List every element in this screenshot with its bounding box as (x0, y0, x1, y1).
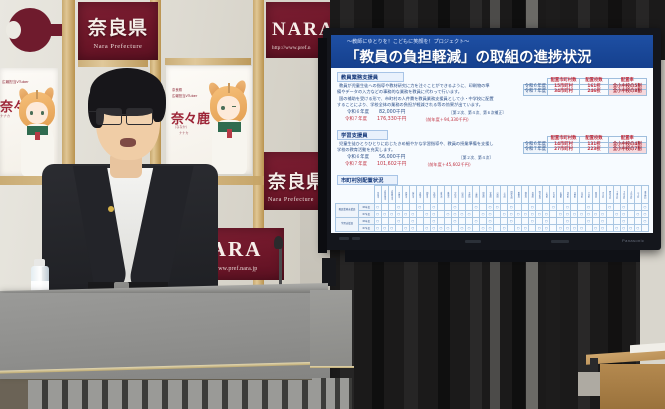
press-conference-photo: 奈良県 Nara Prefecture NARA http://www.pref… (0, 0, 665, 409)
grid-col-header: 十津川村 (613, 186, 620, 204)
lectern-grille (28, 380, 328, 409)
grid-cell (473, 225, 480, 232)
grid-cell: ○ (395, 218, 402, 225)
grid-row-group-label: 学習支援員 (336, 218, 359, 232)
section-2-line-1: 児童生徒ひとりひとりに応じたきめ細やかな学習指導や、教員の授業準備を支援し (339, 141, 494, 147)
grid-row-label: R6年度 (359, 204, 375, 211)
grid-cell (641, 225, 648, 232)
grid-col-header: 御所市 (423, 186, 430, 204)
grid-cell: ○ (388, 211, 395, 218)
grid-cell (494, 211, 501, 218)
grid-cell: ○ (381, 225, 388, 232)
grid-cell: ○ (599, 225, 606, 232)
grid-cell: ○ (388, 225, 395, 232)
section-tag-1: 教員業務支援員 (337, 72, 404, 82)
grid-cell: ○ (620, 225, 627, 232)
grid-cell: ○ (599, 218, 606, 225)
section-2-budget-value-1: 56,000千円 (379, 155, 405, 161)
grid-cell (465, 218, 472, 225)
grid-cell: ○ (451, 204, 458, 211)
grid-cell (627, 204, 634, 211)
grid-cell (578, 204, 585, 211)
grid-col-header: 平群町 (465, 186, 472, 204)
table-row: R7年度○○○○○○○○○○○○○○○○○○○○○○○○○○○○○○○○ (336, 211, 649, 218)
grid-cell: ○ (571, 225, 578, 232)
grid-cell: ○ (592, 211, 599, 218)
grid-col-header: 田原本町 (508, 186, 515, 204)
grid-cell: ○ (465, 225, 472, 232)
lectern-side-block (310, 290, 352, 368)
grid-cell (571, 218, 578, 225)
grid-cell: ○ (458, 225, 465, 232)
grid-cell: ○ (606, 204, 613, 211)
grid-cell (529, 225, 536, 232)
grid-cell: ○ (409, 225, 416, 232)
grid-col-header: 河合町 (564, 186, 571, 204)
grid-cell (613, 204, 620, 211)
grid-cell: ○ (571, 211, 578, 218)
grid-cell: ○ (480, 225, 487, 232)
grid-cell: ○ (501, 225, 508, 232)
cell-value: 27市町村 (547, 148, 580, 154)
section-1-budget-value-2: 176,330千円 (377, 117, 406, 123)
grid-cell (388, 218, 395, 225)
panel-en-label: Nara Prefecture (268, 197, 314, 203)
lectern-side-trim (310, 366, 354, 368)
grid-cell: ○ (634, 225, 641, 232)
grid-cell: ○ (557, 225, 564, 232)
grid-cell: ○ (395, 204, 402, 211)
presentation-display: ～教師にゆとりを！こどもに笑顔を！プロジェクト～ 「教員の負担軽減」の取組の進捗… (323, 28, 661, 250)
grid-cell (592, 204, 599, 211)
grid-cell: ○ (620, 218, 627, 225)
grid-cell: ○ (543, 218, 550, 225)
section-1-line-1: 教員が児童生徒への指導や教材研究に力を注ぐことができるように、印刷物の準 (339, 83, 490, 89)
grid-cell (437, 204, 444, 211)
grid-col-header: 上北山村 (627, 186, 634, 204)
grid-cell: ○ (487, 218, 494, 225)
grid-col-header: 橿原市 (402, 186, 409, 204)
grid-cell: ○ (473, 204, 480, 211)
grid-cell: ○ (529, 204, 536, 211)
grid-cell (606, 218, 613, 225)
hair-side (152, 86, 166, 122)
grid-cell (501, 218, 508, 225)
grid-cell: ○ (585, 218, 592, 225)
grid-cell: ○ (557, 211, 564, 218)
grid-cell: ○ (529, 218, 536, 225)
grid-cell: ○ (529, 211, 536, 218)
grid-cell: ○ (592, 225, 599, 232)
grid-col-header: 大和郡山市 (388, 186, 395, 204)
grid-cell (557, 204, 564, 211)
grid-col-header: 川上村 (634, 186, 641, 204)
grid-cell (522, 218, 529, 225)
secondary-microphone-capsule (274, 236, 283, 249)
grid-cell (437, 218, 444, 225)
grid-cell (515, 218, 522, 225)
grid-cell: ○ (402, 211, 409, 218)
grid-cell: ○ (599, 211, 606, 218)
display-screen: ～教師にゆとりを！こどもに笑顔を！プロジェクト～ 「教員の負担軽減」の取組の進捗… (331, 35, 653, 233)
slide-content: ～教師にゆとりを！こどもに笑顔を！プロジェクト～ 「教員の負担軽減」の取組の進捗… (331, 35, 653, 233)
floor-riser (578, 372, 600, 396)
grid-col-header: 御杖村 (522, 186, 529, 204)
grid-col-header: 大和高田市 (381, 186, 388, 204)
panel-jp-label: 奈良県 (268, 168, 325, 194)
panel-url-label: http://www.pref.n (272, 45, 311, 51)
grid-cell: ○ (374, 218, 381, 225)
display-mount-bar (345, 250, 640, 262)
grid-col-header: 高取町 (529, 186, 536, 204)
grid-cell: ○ (501, 211, 508, 218)
grid-cell (444, 204, 451, 211)
grid-cell: ○ (444, 225, 451, 232)
grid-col-header: 吉野町 (571, 186, 578, 204)
table-row: 令和７年度 27市町村 223校 全小中校の7割 (524, 148, 647, 154)
grid-cell (508, 225, 515, 232)
display-brand-label: Panasonic (622, 238, 644, 243)
grid-cell: ○ (508, 218, 515, 225)
grid-cell: ○ (395, 211, 402, 218)
section-2-budget-label-1: 令和６年度 (347, 155, 369, 161)
display-sensor-bar (465, 240, 481, 243)
poster-mascot-reading: ナナカ (0, 113, 10, 118)
side-desk-front (600, 364, 665, 409)
grid-cell: ○ (641, 218, 648, 225)
grid-col-header: 天川村 (599, 186, 606, 204)
grid-cell: ○ (515, 211, 522, 218)
table-row: R7年度○○○○○○○○○○○○○○○○○○○○○○○○○○○○ (336, 225, 649, 232)
grid-cell: ○ (613, 211, 620, 218)
grid-cell: ○ (508, 204, 515, 211)
grid-cell: ○ (423, 211, 430, 218)
grid-cell (550, 225, 557, 232)
nara-prefecture-emblem-icon (8, 8, 64, 54)
lapel-pin (108, 206, 114, 212)
grid-cell: ○ (409, 218, 416, 225)
cell-value: 34市町村 (547, 90, 580, 96)
section-tag-2: 学習支援員 (337, 130, 388, 140)
grid-cell (571, 204, 578, 211)
grid-cell (480, 204, 487, 211)
section-2-budget-delta: （前年度＋45,602千円） (425, 162, 473, 168)
display-power-button[interactable] (339, 237, 349, 240)
grid-col-header: 曽爾村 (515, 186, 522, 204)
grid-cell: ○ (543, 225, 550, 232)
grid-col-header: 三郷町 (473, 186, 480, 204)
cell-value: 全小中校の7割 (608, 148, 646, 154)
grid-col-header: 大淀町 (578, 186, 585, 204)
grid-row-group-label: 教員業務支援員 (336, 204, 359, 218)
grid-cell: ○ (451, 218, 458, 225)
grid-cell (395, 225, 402, 232)
grid-cell (458, 218, 465, 225)
grid-cell (451, 225, 458, 232)
grid-cell: ○ (564, 225, 571, 232)
grid-cell (613, 218, 620, 225)
grid-cell: ○ (409, 211, 416, 218)
grid-cell (592, 218, 599, 225)
row-label: 令和７年度 (524, 148, 548, 154)
grid-cell: ○ (627, 225, 634, 232)
grid-cell (634, 218, 641, 225)
section-2-budget-value-2: 101,602千円 (377, 162, 406, 168)
grid-cell (578, 218, 585, 225)
grid-cell (536, 218, 543, 225)
grid-cell (409, 204, 416, 211)
grid-cell (381, 218, 388, 225)
grid-cell (416, 218, 423, 225)
grid-cell: ○ (522, 211, 529, 218)
grid-cell: ○ (374, 211, 381, 218)
grid-cell: ○ (444, 211, 451, 218)
grid-cell: ○ (451, 211, 458, 218)
panel-jp-label: 奈良県 (88, 13, 148, 40)
municipality-grid-table: 奈良市大和高田市大和郡山市天理市橿原市桜井市五條市御所市生駒市香芝市葛城市宇陀市… (335, 185, 649, 232)
display-sensor-bar (551, 240, 569, 243)
grid-col-header: 広陵町 (557, 186, 564, 204)
grid-col-header: 天理市 (395, 186, 402, 204)
grid-cell (388, 204, 395, 211)
grid-cell (416, 211, 423, 218)
grid-cell: ○ (564, 204, 571, 211)
grid-cell (515, 204, 522, 211)
grid-cell (557, 218, 564, 225)
section-2-table: 配置市町村数 配置校数 配置率 令和６年度 14市町村 131校 全小中校の4割… (523, 136, 647, 154)
section-1-budget-note-1: ［第２次、第４次、第６次補正］ (449, 110, 506, 115)
grid-cell (458, 204, 465, 211)
grid-col-header: 山添村 (458, 186, 465, 204)
display-cable-box (322, 258, 336, 286)
section-1-budget-label-1: 令和６年度 (347, 110, 369, 116)
grid-cell: ○ (564, 218, 571, 225)
grid-cell: ○ (550, 204, 557, 211)
section-tag-3: 市町村別配置状況 (337, 175, 398, 185)
grid-cell: ○ (620, 204, 627, 211)
cell-value: 223校 (580, 148, 608, 154)
grid-row-label: R7年度 (359, 211, 375, 218)
mouth (120, 138, 136, 147)
grid-cell: ○ (381, 211, 388, 218)
section-1-budget-value-1: 82,000千円 (379, 110, 405, 116)
section-1-line-3: 国の補助を受ける形で、市町村の人件費を教員業務支援員として小・中学校に配置 (339, 96, 494, 102)
grid-cell: ○ (437, 225, 444, 232)
grid-cell (402, 204, 409, 211)
grid-cell: ○ (487, 211, 494, 218)
grid-cell: ○ (515, 225, 522, 232)
display-side-frame (318, 38, 327, 253)
grid-cell (599, 204, 606, 211)
grid-row-label: R7年度 (359, 225, 375, 232)
grid-cell: ○ (416, 204, 423, 211)
grid-cell: ○ (374, 204, 381, 211)
grid-cell (536, 204, 543, 211)
grid-cell (550, 211, 557, 218)
grid-col-header: 王寺町 (550, 186, 557, 204)
grid-cell (416, 225, 423, 232)
grid-cell: ○ (641, 211, 648, 218)
grid-cell (606, 211, 613, 218)
grid-cell: ○ (465, 211, 472, 218)
grid-col-header: 斑鳩町 (480, 186, 487, 204)
grid-col-header: 三宅町 (501, 186, 508, 204)
grid-corner (336, 186, 359, 204)
section-1-budget-delta: （前年度＋94,330千円） (423, 117, 471, 123)
display-input-button[interactable] (352, 237, 360, 240)
grid-cell: ○ (585, 211, 592, 218)
grid-cell (494, 218, 501, 225)
grid-col-header: 野迫川村 (606, 186, 613, 204)
grid-col-header: 宇陀市 (451, 186, 458, 204)
grid-cell: ○ (620, 211, 627, 218)
grid-cell (634, 204, 641, 211)
grid-cell (423, 218, 430, 225)
section-1-line-4: することにより、学校全体の業務の負担が軽減される等の効果が出ています。 (337, 102, 483, 108)
grid-col-header: 黒滝村 (592, 186, 599, 204)
grid-corner (359, 186, 375, 204)
grid-col-header: 五條市 (416, 186, 423, 204)
grid-col-header: 上牧町 (543, 186, 550, 204)
grid-cell (437, 211, 444, 218)
grid-cell: ○ (564, 211, 571, 218)
grid-cell: ○ (536, 211, 543, 218)
grid-cell: ○ (585, 204, 592, 211)
grid-col-header: 下北山村 (620, 186, 627, 204)
grid-cell (423, 204, 430, 211)
grid-cell: ○ (458, 211, 465, 218)
grid-col-header: 香芝市 (437, 186, 444, 204)
grid-cell (402, 218, 409, 225)
row-label: 令和７年度 (524, 90, 548, 96)
grid-cell: ○ (578, 211, 585, 218)
slide-title: 「教員の負担軽減」の取組の進捗状況 (345, 46, 592, 67)
grid-cell: ○ (536, 225, 543, 232)
grid-cell (473, 211, 480, 218)
grid-cell: ○ (543, 211, 550, 218)
grid-header-row: 奈良市大和高田市大和郡山市天理市橿原市桜井市五條市御所市生駒市香芝市葛城市宇陀市… (336, 186, 649, 204)
lectern-side-grille (312, 378, 352, 409)
grid-cell: ○ (473, 218, 480, 225)
municipality-grid: 奈良市大和高田市大和郡山市天理市橿原市桜井市五條市御所市生駒市香芝市葛城市宇陀市… (335, 185, 649, 231)
section-1-table: 配置市町村数 配置校数 配置率 令和６年度 15市町村 161校 全小中校の5割… (523, 78, 647, 96)
grid-cell: ○ (508, 211, 515, 218)
speaker-person (36, 56, 236, 296)
grid-cell: ○ (487, 225, 494, 232)
grid-col-header: 安堵町 (487, 186, 494, 204)
grid-col-header: 奈良市 (374, 186, 381, 204)
grid-cell (444, 218, 451, 225)
grid-cell: ○ (641, 204, 648, 211)
grid-cell: ○ (634, 211, 641, 218)
grid-cell (627, 218, 634, 225)
grid-cell (465, 204, 472, 211)
grid-cell: ○ (430, 218, 437, 225)
grid-cell: ○ (494, 204, 501, 211)
section-2-line-2: 学校の教育活動を充実します。 (337, 147, 395, 153)
section-1-line-2: 備やデータの入力などの事務的な業務を教員に代わって行います。 (337, 89, 462, 95)
table-row: 教員業務支援員R6年度○○○○○○○○○○○○○○○○ (336, 204, 649, 211)
grid-cell: ○ (374, 225, 381, 232)
grid-col-header: 下市町 (585, 186, 592, 204)
grid-cell: ○ (480, 211, 487, 218)
grid-cell (501, 204, 508, 211)
grid-col-header: 桜井市 (409, 186, 416, 204)
grid-cell (480, 218, 487, 225)
section-2-budget-label-2: 令和７年度 (345, 162, 367, 168)
grid-cell (543, 204, 550, 211)
grid-cell: ○ (430, 225, 437, 232)
grid-cell: ○ (613, 225, 620, 232)
grid-col-header: 生駒市 (430, 186, 437, 204)
section-1-budget-label-2: 令和７年度 (345, 117, 367, 123)
grid-cell: ○ (522, 225, 529, 232)
grid-row-label: R6年度 (359, 218, 375, 225)
grid-col-header: 東吉野村 (641, 186, 648, 204)
grid-cell: ○ (487, 204, 494, 211)
slide-subtitle: ～教師にゆとりを！こどもに笑顔を！プロジェクト～ (347, 38, 469, 45)
grid-cell: ○ (578, 225, 585, 232)
grid-col-header: 葛城市 (444, 186, 451, 204)
table-row: 令和７年度 34市町村 246校 全小中校の8割 (524, 90, 647, 96)
grid-cell (494, 225, 501, 232)
grid-col-header: 明日香村 (536, 186, 543, 204)
section-2-budget-note-1: ［第２次、第４次］ (459, 155, 493, 160)
grid-cell (381, 204, 388, 211)
backdrop-panel-nara-top: 奈良県 Nara Prefecture (78, 2, 158, 60)
grid-cell: ○ (430, 211, 437, 218)
grid-cell (585, 225, 592, 232)
grid-cell: ○ (430, 204, 437, 211)
cell-value: 全小中校の8割 (608, 90, 646, 96)
panel-en-label: Nara Prefecture (94, 43, 143, 50)
grid-cell: ○ (402, 225, 409, 232)
grid-cell (606, 225, 613, 232)
cell-value: 246校 (580, 90, 608, 96)
grid-cell (550, 218, 557, 225)
grid-col-header: 川西町 (494, 186, 501, 204)
grid-cell: ○ (423, 225, 430, 232)
table-row: 学習支援員R6年度○○○○○○○○○○○○○○○ (336, 218, 649, 225)
grid-cell (627, 211, 634, 218)
grid-cell (522, 204, 529, 211)
